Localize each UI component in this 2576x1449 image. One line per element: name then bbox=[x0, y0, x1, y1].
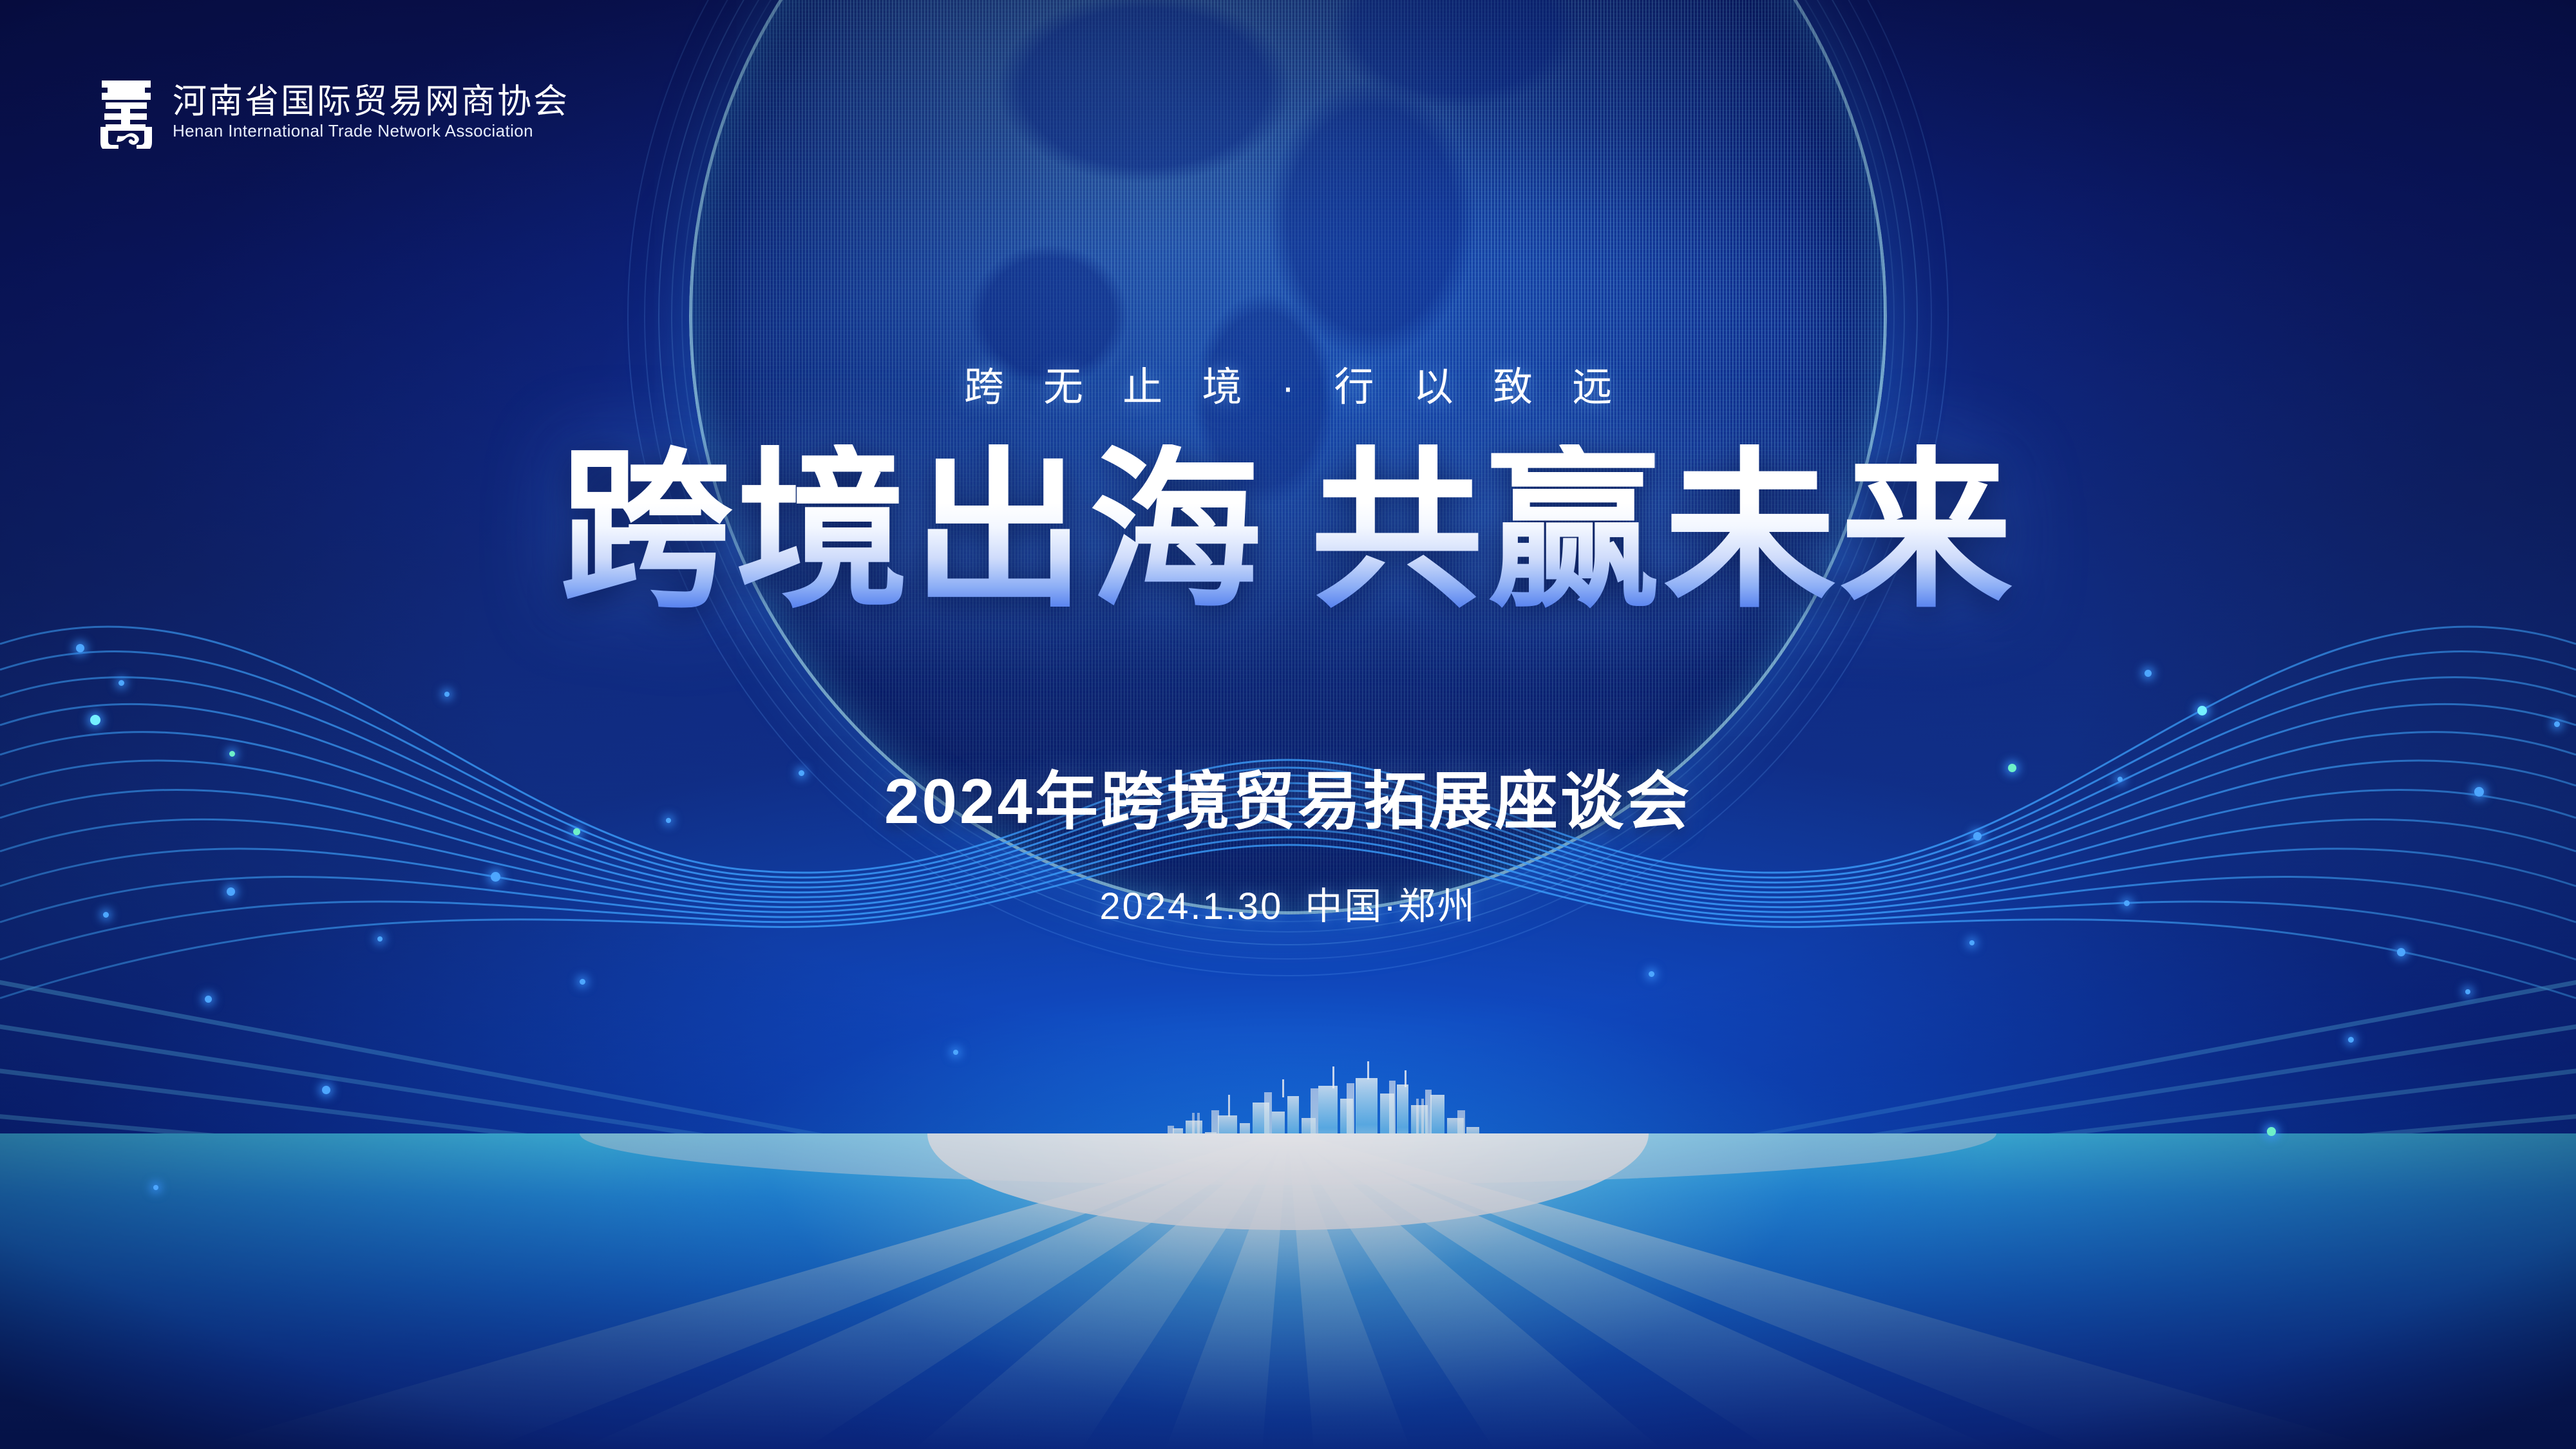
brand-name-en: Henan International Trade Network Associ… bbox=[173, 122, 569, 139]
vignette bbox=[0, 0, 2576, 1449]
event-banner: 河南省国际贸易网商协会 Henan International Trade Ne… bbox=[0, 0, 2576, 1449]
event-location: 中国·郑州 bbox=[1305, 885, 1476, 927]
seal-emblem-icon bbox=[97, 74, 156, 149]
brand-logo[interactable]: 河南省国际贸易网商协会 Henan International Trade Ne… bbox=[97, 74, 569, 149]
event-subtitle: 2024年跨境贸易拓展座谈会 bbox=[0, 750, 2576, 842]
event-tagline: 跨 无 止 境 · 行 以 致 远 bbox=[0, 354, 2576, 412]
title-part-1: 跨境出海 bbox=[560, 434, 1265, 627]
event-date: 2024.1.30 bbox=[1099, 885, 1283, 927]
brand-name-cn: 河南省国际贸易网商协会 bbox=[173, 84, 569, 118]
title-part-2: 共赢未来 bbox=[1311, 434, 2016, 627]
event-date-location: 2024.1.30中国·郑州 bbox=[0, 876, 2576, 930]
brand-text: 河南省国际贸易网商协会 Henan International Trade Ne… bbox=[173, 84, 569, 139]
page-title: 跨境出海共赢未来 bbox=[0, 444, 2576, 617]
